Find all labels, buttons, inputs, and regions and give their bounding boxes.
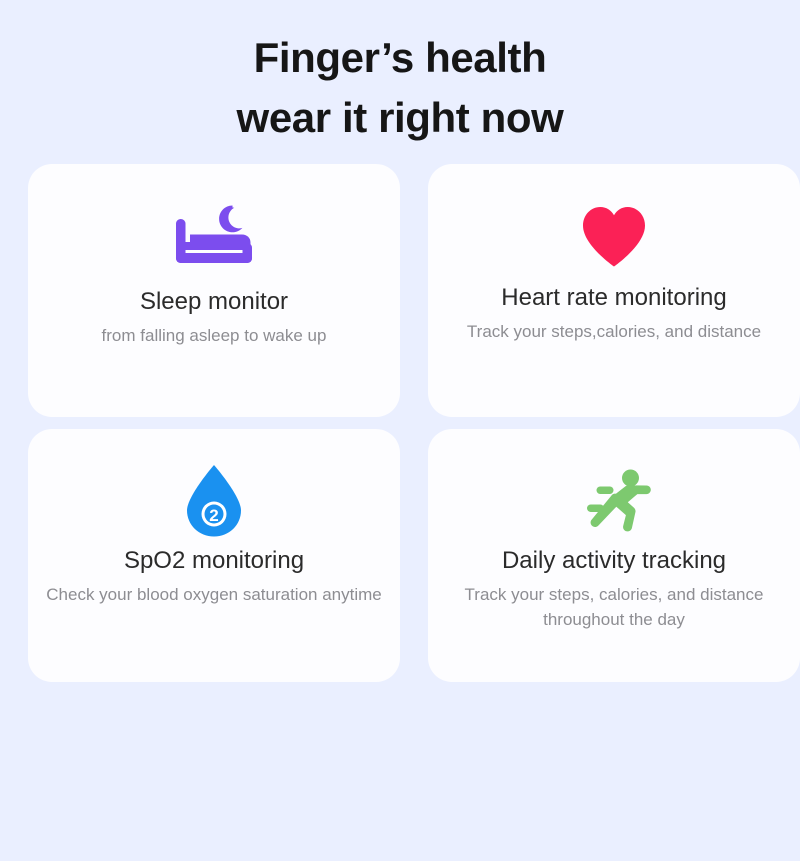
card-subtitle: Track your steps, calories, and distance…: [449, 583, 779, 632]
running-person-icon: [576, 455, 652, 547]
card-title: Sleep monitor: [140, 288, 288, 317]
feature-card-grid: Sleep monitor from falling asleep to wak…: [0, 164, 800, 682]
sleep-bed-moon-icon: [172, 190, 256, 288]
feature-card-spo2: 2 SpO2 monitoring Check your blood oxyge…: [28, 429, 400, 682]
feature-card-daily-activity: Daily activity tracking Track your steps…: [428, 429, 800, 682]
card-subtitle: Check your blood oxygen saturation anyti…: [46, 583, 381, 608]
feature-card-sleep-monitor: Sleep monitor from falling asleep to wak…: [28, 164, 400, 417]
card-title: SpO2 monitoring: [124, 547, 304, 576]
feature-card-heart-rate: Heart rate monitoring Track your steps,c…: [428, 164, 800, 417]
water-drop-o2-icon: 2: [184, 455, 244, 547]
promo-page: Finger’s health wear it right now Sleep: [0, 0, 800, 861]
page-title-line-1: Finger’s health: [0, 28, 800, 88]
page-title-line-2: wear it right now: [0, 88, 800, 148]
page-title: Finger’s health wear it right now: [0, 0, 800, 147]
drop-badge-text: 2: [209, 506, 218, 525]
card-subtitle: from falling asleep to wake up: [102, 324, 327, 349]
heart-icon: [581, 190, 647, 282]
card-title: Daily activity tracking: [502, 547, 726, 576]
card-subtitle: Track your steps,calories, and distance: [467, 320, 761, 345]
card-title: Heart rate monitoring: [501, 284, 726, 313]
